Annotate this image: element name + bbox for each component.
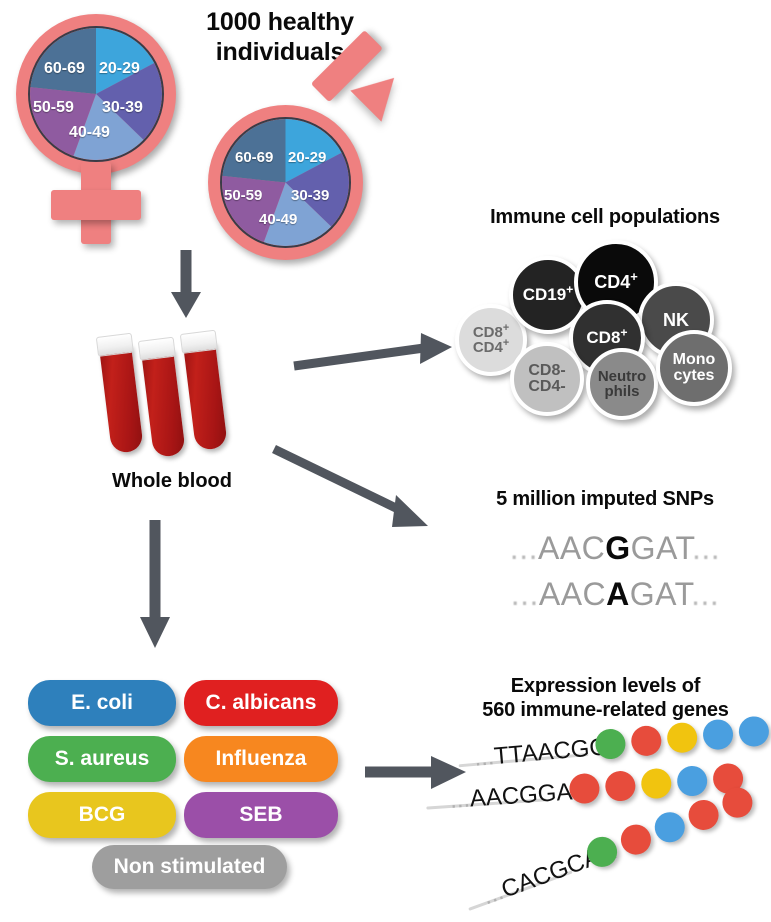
- blood-tube: [182, 330, 228, 451]
- arrow-blood-to-immune: [294, 333, 452, 366]
- immune-section-title: Immune cell populations: [440, 206, 770, 230]
- blood-tube-body: [183, 342, 228, 451]
- snp-suffix: ...: [692, 530, 720, 566]
- stimulation-seb[interactable]: SEB: [184, 792, 338, 838]
- stimulation-calbicans[interactable]: C. albicans: [184, 680, 338, 726]
- snps-section-title: 5 million imputed SNPs: [440, 488, 770, 512]
- stimulation-condition-grid: E. coli C. albicans S. aureus Influenza …: [28, 680, 338, 845]
- gene-strand-sequence: ...AACGGAT: [449, 778, 586, 815]
- stimulation-bcg[interactable]: BCG: [28, 792, 176, 838]
- gene-bead: [651, 808, 689, 846]
- figure-canvas: 1000 healthy individuals 60-69 20-29 30-…: [0, 0, 771, 922]
- cell-label: CD8+: [586, 329, 627, 346]
- snp-variant-base: G: [605, 530, 630, 566]
- gene-strand-bases: AACGGAT: [469, 778, 586, 813]
- cell-label: NK: [663, 311, 689, 329]
- snp-sequence-block: ...AACGGAT... ...AACAGAT...: [470, 530, 760, 620]
- cell-label-line1: CD8-: [528, 363, 565, 379]
- expression-title-line-1: Expression levels of: [440, 675, 771, 699]
- arrow-cohort-to-blood: [171, 250, 201, 318]
- stimulation-saureus[interactable]: S. aureus: [28, 736, 176, 782]
- cell-label-line2: CD4-: [528, 379, 565, 395]
- gene-bead: [604, 770, 636, 802]
- cell-label-line2: cytes: [674, 368, 715, 384]
- arrow-stimulations-to-expression: [365, 756, 466, 789]
- stimulation-ecoli[interactable]: E. coli: [28, 680, 176, 726]
- stimulation-non-stimulated[interactable]: Non stimulated: [92, 845, 287, 889]
- whole-blood-tubes-icon: [110, 330, 240, 455]
- immune-cell-cluster: CD8+ CD4+ CD19+ CD4+ NK CD8+ CD8- CD4- N…: [455, 238, 765, 420]
- snp-right-bases: GAT: [630, 576, 691, 612]
- snp-row: ...AACAGAT...: [470, 576, 760, 618]
- whole-blood-label: Whole blood: [72, 470, 272, 493]
- stimulation-influenza[interactable]: Influenza: [184, 736, 338, 782]
- cell-monocytes: Mono cytes: [656, 330, 732, 406]
- cell-cd8neg-cd4neg: CD8- CD4-: [510, 342, 584, 416]
- gene-strand-bases: TTAACGG: [493, 733, 609, 770]
- snp-suffix: ...: [691, 576, 719, 612]
- snp-left-bases: AAC: [539, 576, 606, 612]
- gene-strand-sequence: ...TTAACGG: [473, 733, 609, 773]
- snp-prefix: ...: [510, 530, 538, 566]
- snp-right-bases: GAT: [631, 530, 692, 566]
- expression-section-title: Expression levels of 560 immune-related …: [440, 675, 771, 722]
- gene-expression-strands: ...TTAACGG ...AACGGAT ...CACGCAA: [455, 735, 771, 915]
- expression-title-line-2: 560 immune-related genes: [440, 699, 771, 723]
- gene-bead: [640, 768, 672, 800]
- snp-variant-base: A: [606, 576, 630, 612]
- cell-label-line2: CD4+: [473, 340, 509, 355]
- cell-neutrophils: Neutro phils: [586, 348, 658, 420]
- blood-tube: [140, 337, 186, 458]
- snp-prefix: ...: [511, 576, 539, 612]
- snp-left-bases: AAC: [538, 530, 605, 566]
- blood-tube-body: [141, 349, 186, 458]
- cell-label-line1: Neutro: [598, 369, 646, 384]
- gene-strand-prefix: ...: [473, 743, 495, 772]
- gene-bead: [676, 765, 708, 797]
- cell-label-line2: phils: [604, 384, 639, 399]
- arrow-blood-to-stimulations: [140, 520, 170, 648]
- cell-label: CD19+: [523, 286, 574, 303]
- snp-row: ...AACGGAT...: [470, 530, 760, 572]
- gene-strand-prefix: ...: [449, 786, 471, 814]
- cell-label-line1: Mono: [673, 352, 716, 368]
- arrow-blood-to-snps: [274, 449, 428, 527]
- cell-label: CD4+: [594, 273, 638, 291]
- gene-bead: [617, 820, 655, 858]
- gene-bead: [684, 796, 722, 834]
